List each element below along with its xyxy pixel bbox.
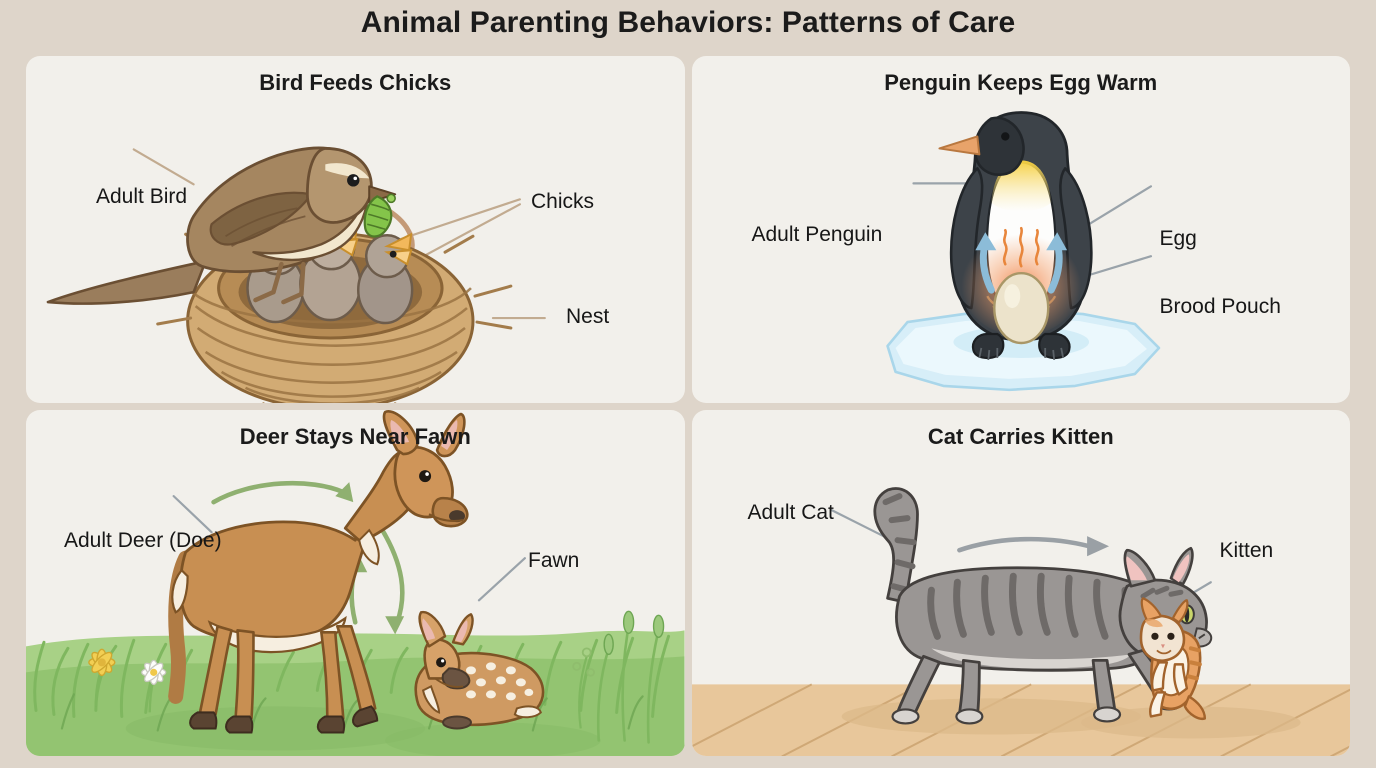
panel-penguin-title: Penguin Keeps Egg Warm xyxy=(692,70,1351,96)
panel-deer-title: Deer Stays Near Fawn xyxy=(26,424,685,450)
bird-illustration xyxy=(26,56,685,403)
page-title: Animal Parenting Behaviors: Patterns of … xyxy=(0,6,1376,40)
arrow-head-down xyxy=(385,616,404,634)
label-adult-penguin: Adult Penguin xyxy=(752,224,883,245)
label-kitten: Kitten xyxy=(1220,540,1274,561)
panel-grid: Bird Feeds Chicks xyxy=(26,56,1350,756)
poster-root: Animal Parenting Behaviors: Patterns of … xyxy=(0,0,1376,768)
label-chicks: Chicks xyxy=(531,191,594,212)
label-egg: Egg xyxy=(1160,228,1197,249)
deer-illustration xyxy=(26,410,685,757)
label-brood-pouch: Brood Pouch xyxy=(1160,296,1281,317)
panel-bird[interactable]: Bird Feeds Chicks xyxy=(26,56,685,403)
label-adult-deer: Adult Deer (Doe) xyxy=(64,530,222,551)
label-adult-cat: Adult Cat xyxy=(748,502,834,523)
fawn-shape xyxy=(416,612,543,728)
cat-illustration xyxy=(692,410,1351,757)
label-fawn: Fawn xyxy=(528,550,579,571)
panel-cat-title: Cat Carries Kitten xyxy=(692,424,1351,450)
egg-shape xyxy=(994,273,1048,343)
panel-bird-title: Bird Feeds Chicks xyxy=(26,70,685,96)
panel-penguin[interactable]: Penguin Keeps Egg Warm xyxy=(692,56,1351,403)
label-adult-bird: Adult Bird xyxy=(96,186,187,207)
wood-floor xyxy=(692,684,1351,756)
panel-deer[interactable]: Deer Stays Near Fawn xyxy=(26,410,685,757)
motion-arrow xyxy=(959,539,1089,550)
motion-arrow-head xyxy=(1087,536,1109,556)
panel-cat[interactable]: Cat Carries Kitten xyxy=(692,410,1351,757)
label-nest: Nest xyxy=(566,306,609,327)
